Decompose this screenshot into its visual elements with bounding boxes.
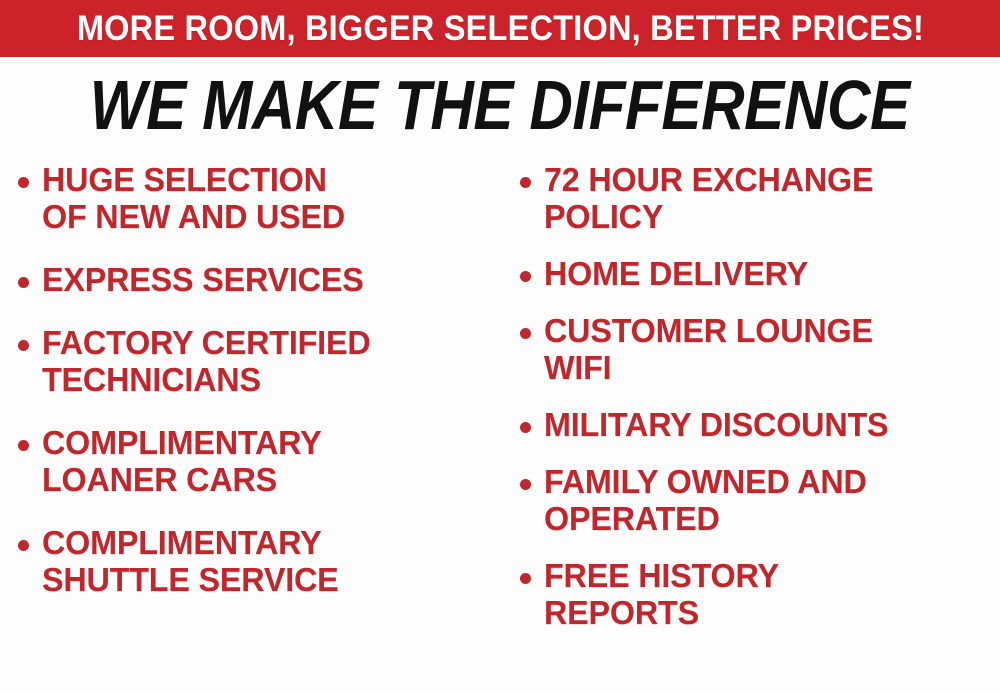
list-item: FREE HISTORY REPORTS bbox=[520, 558, 998, 632]
list-item: HOME DELIVERY bbox=[520, 256, 998, 293]
benefit-text: MILITARY DISCOUNTS bbox=[544, 407, 888, 444]
benefit-line-1: FACTORY CERTIFIED bbox=[42, 324, 370, 361]
bullet-dot-icon bbox=[520, 328, 531, 339]
bullet-dot-icon bbox=[520, 479, 531, 490]
benefit-line-2: TECHNICIANS bbox=[42, 361, 261, 398]
benefit-text: COMPLIMENTARY SHUTTLE SERVICE bbox=[42, 525, 339, 599]
list-item: MILITARY DISCOUNTS bbox=[520, 407, 998, 444]
benefit-line-2: WIFI bbox=[544, 349, 611, 386]
benefit-line-1: HUGE SELECTION bbox=[42, 161, 327, 198]
page-title: WE MAKE THE DIFFERENCE bbox=[90, 70, 910, 140]
benefit-text: FAMILY OWNED AND OPERATED bbox=[544, 464, 867, 538]
benefit-line-2: SHUTTLE SERVICE bbox=[42, 561, 339, 598]
list-item: CUSTOMER LOUNGE WIFI bbox=[520, 313, 998, 387]
benefit-text: HUGE SELECTION OF NEW AND USED bbox=[42, 162, 345, 236]
top-banner-text: MORE ROOM, BIGGER SELECTION, BETTER PRIC… bbox=[76, 11, 923, 46]
benefit-line-1: EXPRESS SERVICES bbox=[42, 261, 364, 298]
benefit-line-2: REPORTS bbox=[544, 594, 699, 631]
benefit-text: COMPLIMENTARY LOANER CARS bbox=[42, 425, 322, 499]
bullet-dot-icon bbox=[520, 177, 531, 188]
benefit-text: HOME DELIVERY bbox=[544, 256, 808, 293]
headline-container: WE MAKE THE DIFFERENCE bbox=[0, 66, 1000, 144]
benefit-line-1: 72 HOUR EXCHANGE bbox=[544, 161, 873, 198]
benefit-line-1: MILITARY DISCOUNTS bbox=[544, 406, 888, 443]
bullet-dot-icon bbox=[520, 573, 531, 584]
benefit-line-2: LOANER CARS bbox=[42, 461, 277, 498]
benefit-line-2: POLICY bbox=[544, 198, 663, 235]
list-item: 72 HOUR EXCHANGE POLICY bbox=[520, 162, 998, 236]
benefit-text: FACTORY CERTIFIED TECHNICIANS bbox=[42, 325, 370, 399]
benefit-line-2: OF NEW AND USED bbox=[42, 198, 345, 235]
benefit-line-1: CUSTOMER LOUNGE bbox=[544, 312, 873, 349]
promo-poster: MORE ROOM, BIGGER SELECTION, BETTER PRIC… bbox=[0, 0, 1000, 694]
top-banner: MORE ROOM, BIGGER SELECTION, BETTER PRIC… bbox=[0, 0, 1000, 57]
benefit-text: EXPRESS SERVICES bbox=[42, 262, 364, 299]
benefit-line-1: FREE HISTORY bbox=[544, 557, 779, 594]
benefit-line-1: HOME DELIVERY bbox=[544, 255, 808, 292]
benefits-columns: HUGE SELECTION OF NEW AND USED EXPRESS S… bbox=[0, 156, 1000, 694]
list-item: FAMILY OWNED AND OPERATED bbox=[520, 464, 998, 538]
bullet-dot-icon bbox=[520, 422, 531, 433]
benefit-text: 72 HOUR EXCHANGE POLICY bbox=[544, 162, 873, 236]
benefit-text: CUSTOMER LOUNGE WIFI bbox=[544, 313, 873, 387]
benefit-line-1: COMPLIMENTARY bbox=[42, 524, 322, 561]
benefit-line-2: OPERATED bbox=[544, 500, 720, 537]
bullet-dot-icon bbox=[520, 271, 531, 282]
benefit-line-1: COMPLIMENTARY bbox=[42, 424, 322, 461]
benefit-line-1: FAMILY OWNED AND bbox=[544, 463, 867, 500]
benefit-text: FREE HISTORY REPORTS bbox=[544, 558, 779, 632]
